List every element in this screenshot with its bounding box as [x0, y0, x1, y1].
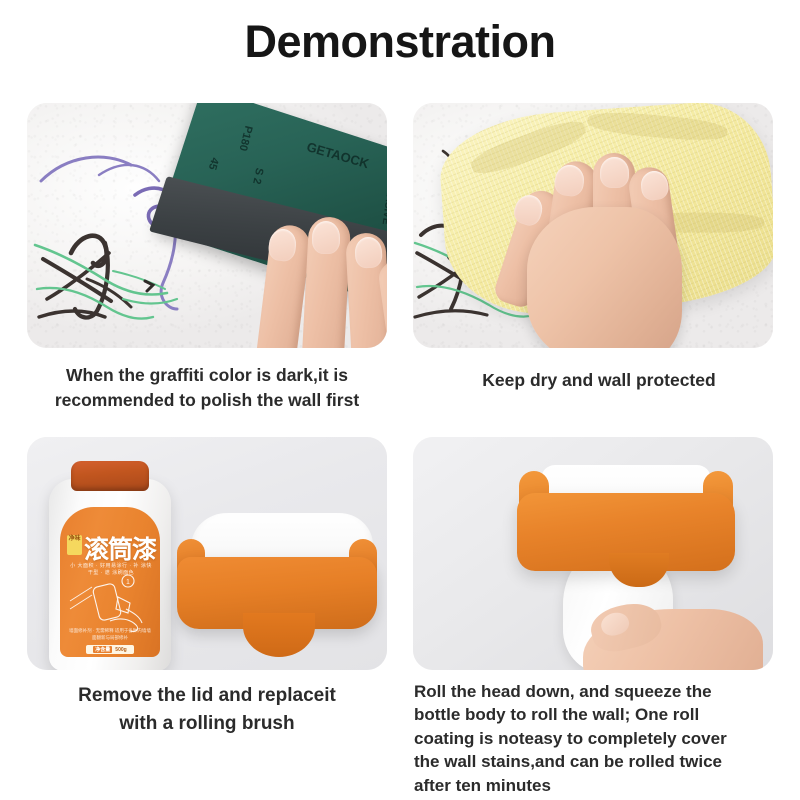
roller-stem	[243, 613, 315, 657]
fingernail	[312, 221, 340, 254]
paint-bottle: 净味 滚筒漆 小 大面积 · 好用易涂行 · 补 涂快干型 · 遮 涂刷面色 1…	[49, 461, 171, 670]
roller-line-art: 1	[66, 573, 154, 635]
hand-holding-block	[255, 211, 387, 348]
bottle-cap	[71, 461, 149, 491]
caption-line: Remove the lid and replaceit	[14, 682, 400, 710]
label-weight-tag: 净含量	[93, 646, 112, 653]
caption-line: coating is noteasy to completely cover	[414, 727, 792, 750]
label-badge: 净味	[67, 535, 82, 555]
page-title: Demonstration	[0, 16, 800, 68]
caption-line: When the graffiti color is dark,it is	[14, 363, 400, 388]
photo-wipe-dry	[413, 103, 773, 348]
label-weight: 净含量 500g	[86, 645, 134, 654]
hand-squeezing-bottle	[583, 587, 763, 670]
fingernail	[600, 157, 629, 188]
hand-wiping	[509, 145, 705, 348]
roller-brush-head	[177, 509, 377, 659]
panel-wipe-dry-step	[413, 103, 773, 348]
roller-neck	[609, 553, 669, 587]
caption-line: with a rolling brush	[14, 710, 400, 738]
caption-line: bottle body to roll the wall; One roll	[414, 703, 792, 726]
label-footer: 墙面修补剂 · 无需稀释 适用于各种内墙墙面翻新与局部修补	[68, 627, 152, 641]
palm	[527, 207, 682, 348]
caption-replace-lid: Remove the lid and replaceit with a roll…	[14, 682, 400, 737]
bottle-label: 净味 滚筒漆 小 大面积 · 好用易涂行 · 补 涂快干型 · 遮 涂刷面色 1…	[60, 507, 160, 657]
panel-polish-wall-step: GETAOCK P180 45 S 2 ABRASIVE	[27, 103, 387, 348]
caption-line: the wall stains,and can be rolled twice	[414, 750, 792, 773]
caption-roll-wall: Roll the head down, and squeeze the bott…	[414, 680, 792, 797]
photo-polish-wall: GETAOCK P180 45 S 2 ABRASIVE	[27, 103, 387, 348]
caption-line: Roll the head down, and squeeze the	[414, 680, 792, 703]
panel-replace-lid-step: 净味 滚筒漆 小 大面积 · 好用易涂行 · 补 涂快干型 · 遮 涂刷面色 1…	[27, 437, 387, 670]
caption-wipe-dry: Keep dry and wall protected	[404, 368, 794, 393]
caption-polish-wall: When the graffiti color is dark,it is re…	[14, 363, 400, 413]
caption-line: after ten minutes	[414, 774, 792, 797]
photo-roll-wall	[413, 437, 773, 670]
roller-applicator	[517, 465, 735, 590]
caption-line: recommended to polish the wall first	[14, 388, 400, 413]
label-weight-value: 500g	[115, 647, 126, 653]
label-title: 滚筒漆	[84, 530, 156, 566]
caption-line: Keep dry and wall protected	[404, 368, 794, 393]
panel-roll-wall-step	[413, 437, 773, 670]
demonstration-page: Demonstration	[0, 0, 800, 800]
photo-bottle-and-roller: 净味 滚筒漆 小 大面积 · 好用易涂行 · 补 涂快干型 · 遮 涂刷面色 1…	[27, 437, 387, 670]
svg-text:1: 1	[126, 579, 130, 586]
